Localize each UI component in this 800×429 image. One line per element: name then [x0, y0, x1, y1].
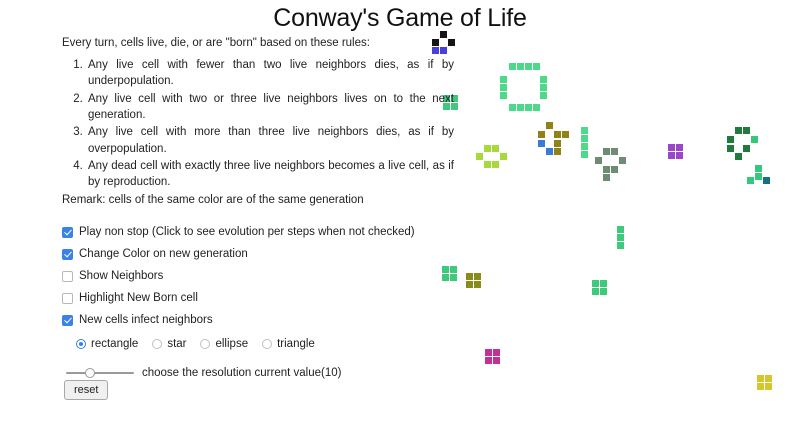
radio-ellipse[interactable] — [200, 339, 210, 349]
life-cell[interactable] — [540, 84, 547, 91]
checkbox-list: Play non stop (Click to see evolution pe… — [62, 222, 442, 330]
life-cell[interactable] — [765, 383, 772, 390]
checkbox-label-change-color: Change Color on new generation — [79, 248, 248, 260]
life-cell[interactable] — [540, 92, 547, 99]
intro-text: Every turn, cells live, die, or are "bor… — [62, 36, 422, 52]
life-cell[interactable] — [617, 234, 624, 241]
life-cell[interactable] — [755, 165, 762, 172]
life-cell[interactable] — [466, 281, 473, 288]
life-cell[interactable] — [592, 288, 599, 295]
life-cell[interactable] — [554, 140, 561, 147]
life-cell[interactable] — [493, 357, 500, 364]
life-cell[interactable] — [509, 63, 516, 70]
checkbox-show-neighbors[interactable] — [62, 271, 73, 282]
rule-item: Any live cell with fewer than two live n… — [86, 57, 454, 90]
life-cell[interactable] — [474, 281, 481, 288]
life-cell[interactable] — [735, 153, 742, 160]
life-cell[interactable] — [493, 349, 500, 356]
life-cell[interactable] — [517, 104, 524, 111]
checkbox-label-infect-neighbors: New cells infect neighbors — [79, 314, 213, 326]
life-cell[interactable] — [466, 273, 473, 280]
life-cell[interactable] — [595, 157, 602, 164]
life-cell[interactable] — [603, 166, 610, 173]
life-cell[interactable] — [562, 131, 569, 138]
radio-star[interactable] — [152, 339, 162, 349]
life-cell[interactable] — [727, 145, 734, 152]
rule-item: Any dead cell with exactly three live ne… — [86, 158, 454, 191]
checkbox-row-show-neighbors[interactable]: Show Neighbors — [62, 266, 442, 286]
remark-text: Remark: cells of the same color are of t… — [62, 194, 432, 206]
life-cell[interactable] — [485, 349, 492, 356]
radio-label-rectangle: rectangle — [91, 338, 138, 350]
life-cell[interactable] — [581, 127, 588, 134]
life-cell[interactable] — [554, 131, 561, 138]
checkbox-row-play-non-stop[interactable]: Play non stop (Click to see evolution pe… — [62, 222, 442, 242]
rule-item: Any live cell with two or three live nei… — [86, 91, 454, 124]
life-cell[interactable] — [533, 63, 540, 70]
checkbox-row-highlight-new-born[interactable]: Highlight New Born cell — [62, 288, 442, 308]
life-cell[interactable] — [755, 173, 762, 180]
life-cell[interactable] — [442, 274, 449, 281]
page-title: Conway's Game of Life — [0, 0, 800, 33]
checkbox-row-infect-neighbors[interactable]: New cells infect neighbors — [62, 310, 442, 330]
life-cell[interactable] — [617, 242, 624, 249]
life-cell[interactable] — [546, 122, 553, 129]
checkbox-infect-neighbors[interactable] — [62, 315, 73, 326]
life-cell[interactable] — [757, 375, 764, 382]
rule-item: Any live cell with more than three live … — [86, 124, 454, 157]
reset-button[interactable]: reset — [64, 380, 108, 400]
life-cell[interactable] — [474, 273, 481, 280]
life-cell[interactable] — [492, 161, 499, 168]
life-cell[interactable] — [525, 104, 532, 111]
checkbox-label-highlight-new-born: Highlight New Born cell — [79, 292, 198, 304]
life-cell[interactable] — [757, 383, 764, 390]
life-cell[interactable] — [611, 148, 618, 155]
slider-track — [66, 372, 134, 374]
life-cell[interactable] — [676, 144, 683, 151]
life-cell[interactable] — [525, 63, 532, 70]
life-cell[interactable] — [603, 148, 610, 155]
radio-option-triangle[interactable]: triangle — [262, 338, 315, 350]
life-cell[interactable] — [432, 47, 439, 54]
radio-triangle[interactable] — [262, 339, 272, 349]
life-cell[interactable] — [751, 136, 758, 143]
life-cell[interactable] — [540, 76, 547, 83]
shape-radio-group: rectanglestarellipsetriangle — [76, 334, 442, 354]
life-cell[interactable] — [484, 161, 491, 168]
life-cell[interactable] — [448, 39, 455, 46]
checkbox-label-show-neighbors: Show Neighbors — [79, 270, 163, 282]
life-cell[interactable] — [617, 226, 624, 233]
life-cell[interactable] — [600, 288, 607, 295]
life-cell[interactable] — [592, 280, 599, 287]
radio-label-star: star — [167, 338, 186, 350]
life-cell[interactable] — [743, 127, 750, 134]
life-cell[interactable] — [484, 145, 491, 152]
life-cell[interactable] — [533, 104, 540, 111]
life-cell[interactable] — [432, 39, 439, 46]
slider-label: choose the resolution current value(10) — [142, 367, 341, 379]
life-cell[interactable] — [442, 266, 449, 273]
life-cell[interactable] — [668, 152, 675, 159]
rules-list: Any live cell with fewer than two live n… — [62, 57, 454, 192]
life-cell[interactable] — [546, 148, 553, 155]
life-cell[interactable] — [500, 76, 507, 83]
life-cell[interactable] — [476, 153, 483, 160]
radio-label-ellipse: ellipse — [215, 338, 248, 350]
radio-option-ellipse[interactable]: ellipse — [200, 338, 248, 350]
life-cell[interactable] — [603, 174, 610, 181]
life-cell[interactable] — [554, 148, 561, 155]
life-cell[interactable] — [440, 47, 447, 54]
checkbox-label-play-non-stop: Play non stop (Click to see evolution pe… — [79, 226, 415, 238]
checkbox-change-color[interactable] — [62, 249, 73, 260]
life-cell[interactable] — [500, 84, 507, 91]
life-cell[interactable] — [450, 274, 457, 281]
life-cell[interactable] — [747, 177, 754, 184]
radio-rectangle[interactable] — [76, 339, 86, 349]
radio-option-rectangle[interactable]: rectangle — [76, 338, 138, 350]
life-cell[interactable] — [676, 152, 683, 159]
life-cell[interactable] — [581, 135, 588, 142]
life-cell[interactable] — [765, 375, 772, 382]
life-cell[interactable] — [743, 145, 750, 152]
resolution-slider-row: choose the resolution current value(10) — [66, 366, 442, 380]
life-cell[interactable] — [500, 153, 507, 160]
life-cell[interactable] — [619, 157, 626, 164]
life-cell[interactable] — [611, 166, 618, 173]
checkbox-row-change-color[interactable]: Change Color on new generation — [62, 244, 442, 264]
checkbox-play-non-stop[interactable] — [62, 227, 73, 238]
life-cell[interactable] — [492, 145, 499, 152]
life-cell[interactable] — [581, 143, 588, 150]
life-cell[interactable] — [735, 127, 742, 134]
life-cell[interactable] — [581, 151, 588, 158]
slider-thumb[interactable] — [85, 368, 95, 378]
life-cell[interactable] — [538, 140, 545, 147]
resolution-slider[interactable] — [66, 366, 134, 380]
life-cell[interactable] — [450, 266, 457, 273]
life-cell[interactable] — [668, 144, 675, 151]
radio-option-star[interactable]: star — [152, 338, 186, 350]
life-cell[interactable] — [509, 104, 516, 111]
life-cell[interactable] — [727, 136, 734, 143]
life-cell[interactable] — [763, 177, 770, 184]
life-cell[interactable] — [538, 131, 545, 138]
controls-panel: Play non stop (Click to see evolution pe… — [62, 222, 442, 380]
life-cell[interactable] — [485, 357, 492, 364]
life-cell[interactable] — [500, 92, 507, 99]
radio-label-triangle: triangle — [277, 338, 315, 350]
checkbox-highlight-new-born[interactable] — [62, 293, 73, 304]
life-cell[interactable] — [517, 63, 524, 70]
life-cell[interactable] — [600, 280, 607, 287]
